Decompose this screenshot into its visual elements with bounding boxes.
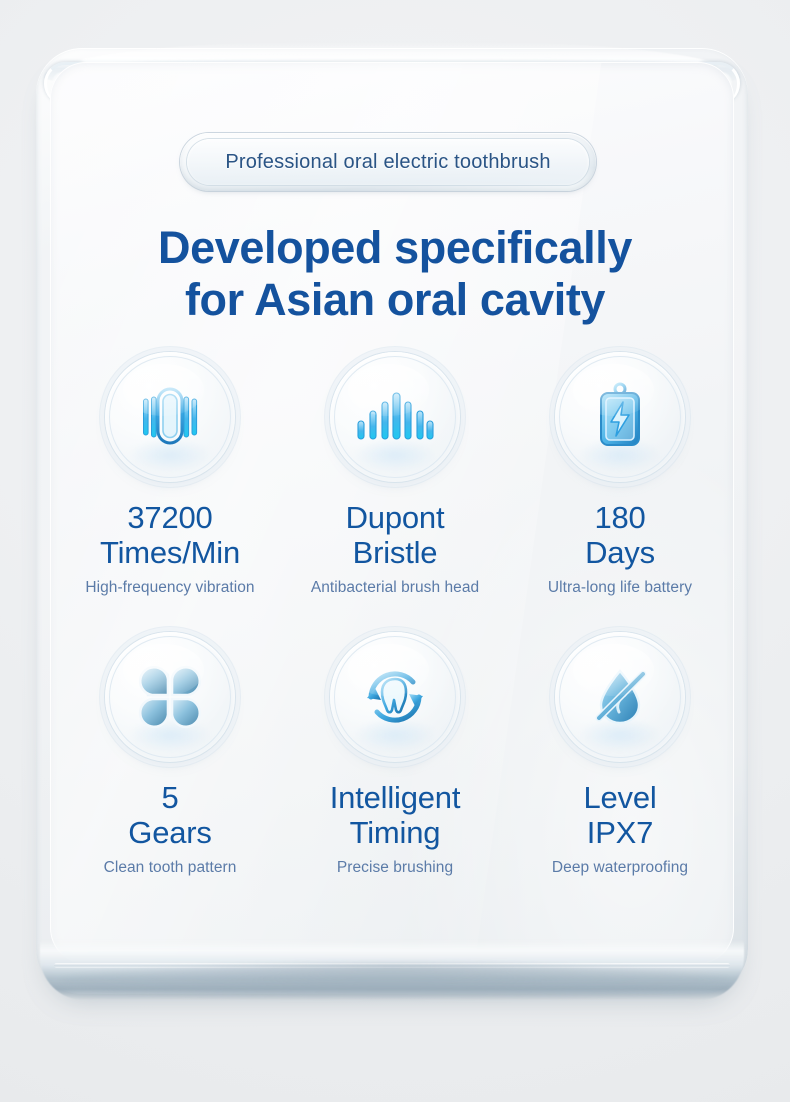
- battery-icon: [555, 352, 685, 482]
- feature-value-line-2: Days: [508, 535, 732, 570]
- page-title: Developed specifically for Asian oral ca…: [0, 222, 790, 326]
- feature-item-vibration: 37200 Times/Min High-frequency vibration: [58, 352, 282, 598]
- feature-item-gears: 5 Gears Clean tooth pattern: [58, 632, 282, 878]
- product-badge-inner: Professional oral electric toothbrush: [187, 139, 589, 185]
- feature-value-line-2: IPX7: [508, 815, 732, 850]
- feature-value-line-2: Bristle: [283, 535, 507, 570]
- feature-caption: Deep waterproofing: [508, 858, 732, 878]
- clover-gears-icon: [105, 632, 235, 762]
- feature-caption: High-frequency vibration: [58, 578, 282, 598]
- feature-row-1: 37200 Times/Min High-frequency vibration: [58, 352, 732, 598]
- feature-icon-lens: [330, 632, 460, 762]
- feature-caption: Precise brushing: [283, 858, 507, 878]
- feature-icon-lens: [105, 352, 235, 482]
- feature-value: Level IPX7: [508, 780, 732, 850]
- feature-item-waterproof: Level IPX7 Deep waterproofing: [508, 632, 732, 878]
- feature-value: 180 Days: [508, 500, 732, 570]
- feature-value: Intelligent Timing: [283, 780, 507, 850]
- feature-value: Dupont Bristle: [283, 500, 507, 570]
- feature-caption: Clean tooth pattern: [58, 858, 282, 878]
- feature-item-bristle: Dupont Bristle Antibacterial brush head: [283, 352, 507, 598]
- feature-value-line-1: Dupont: [346, 500, 445, 535]
- waterproof-drop-icon: [555, 632, 685, 762]
- feature-value: 5 Gears: [58, 780, 282, 850]
- page-title-line-2: for Asian oral cavity: [0, 274, 790, 326]
- feature-value-line-1: 180: [594, 500, 645, 535]
- feature-caption: Antibacterial brush head: [283, 578, 507, 598]
- feature-value-line-1: Level: [583, 780, 656, 815]
- feature-item-battery: 180 Days Ultra-long life battery: [508, 352, 732, 598]
- feature-value: 37200 Times/Min: [58, 500, 282, 570]
- vibration-icon: [105, 352, 235, 482]
- feature-value-line-2: Timing: [283, 815, 507, 850]
- product-badge-label: Professional oral electric toothbrush: [225, 151, 550, 174]
- feature-caption: Ultra-long life battery: [508, 578, 732, 598]
- feature-grid: 37200 Times/Min High-frequency vibration: [58, 352, 732, 878]
- feature-row-2: 5 Gears Clean tooth pattern: [58, 632, 732, 878]
- card-content: Professional oral electric toothbrush De…: [0, 0, 790, 1102]
- feature-value-line-2: Gears: [58, 815, 282, 850]
- feature-icon-lens: [555, 352, 685, 482]
- feature-value-line-1: 37200: [127, 500, 212, 535]
- page-title-line-1: Developed specifically: [158, 222, 632, 273]
- feature-value-line-1: Intelligent: [330, 780, 461, 815]
- feature-value-line-1: 5: [161, 780, 178, 815]
- feature-icon-lens: [330, 352, 460, 482]
- feature-item-timing: Intelligent Timing Precise brushing: [283, 632, 507, 878]
- feature-icon-lens: [105, 632, 235, 762]
- product-badge: Professional oral electric toothbrush: [180, 133, 596, 191]
- feature-icon-lens: [555, 632, 685, 762]
- tooth-cycle-icon: [330, 632, 460, 762]
- bristle-icon: [330, 352, 460, 482]
- feature-value-line-2: Times/Min: [58, 535, 282, 570]
